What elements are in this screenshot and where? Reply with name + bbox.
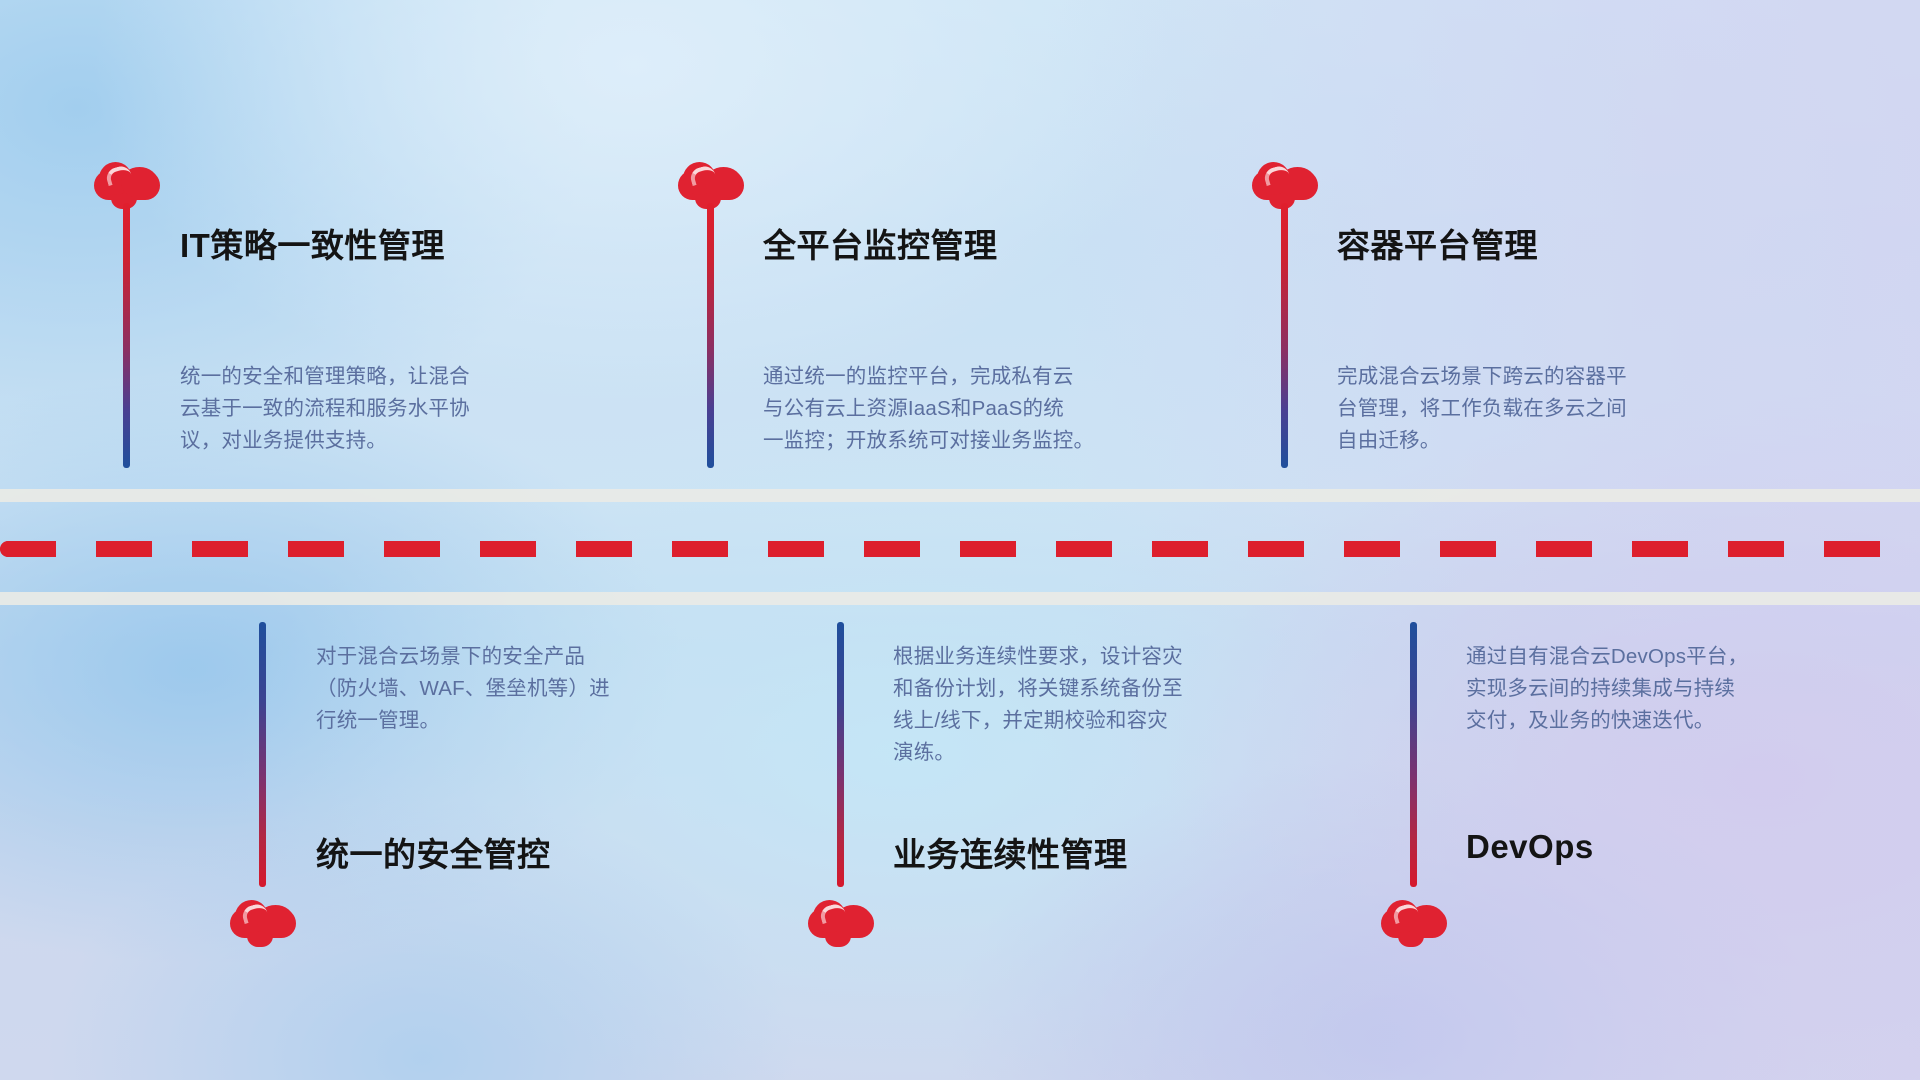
cloud-icon [94, 160, 160, 204]
road-band-lower [0, 592, 1920, 605]
stem-connector [1281, 203, 1288, 468]
cloud-icon [1252, 160, 1318, 204]
cloud-icon [1381, 898, 1447, 942]
stem-connector [259, 622, 266, 887]
bottom-column-2-body: 根据业务连续性要求，设计容灾 和备份计划，将关键系统备份至 线上/线下，并定期校… [893, 641, 1343, 769]
road-band-upper [0, 489, 1920, 502]
stem-connector [123, 203, 130, 468]
top-column-3-title: 容器平台管理 [1337, 219, 1538, 267]
bottom-column-2-title: 业务连续性管理 [893, 828, 1128, 876]
bottom-column-1-title: 统一的安全管控 [316, 828, 551, 876]
stem-connector [837, 622, 844, 887]
stem-connector [707, 203, 714, 468]
top-column-1-title: IT策略一致性管理 [180, 219, 445, 267]
top-column-1-body: 统一的安全和管理策略，让混合 云基于一致的流程和服务水平协 议，对业务提供支持。 [180, 361, 610, 457]
cloud-icon [230, 898, 296, 942]
road-center-dashes [0, 541, 1920, 557]
bottom-column-3-title: DevOps [1466, 828, 1594, 866]
top-column-2-body: 通过统一的监控平台，完成私有云 与公有云上资源IaaS和PaaS的统 一监控；开… [763, 361, 1233, 457]
infographic-canvas: IT策略一致性管理 统一的安全和管理策略，让混合 云基于一致的流程和服务水平协 … [0, 0, 1920, 1080]
top-column-3-body: 完成混合云场景下跨云的容器平 台管理，将工作负载在多云之间 自由迁移。 [1337, 361, 1787, 457]
bottom-column-1-body: 对于混合云场景下的安全产品 （防火墙、WAF、堡垒机等）进 行统一管理。 [316, 641, 746, 737]
top-column-2-title: 全平台监控管理 [763, 219, 998, 267]
cloud-icon [678, 160, 744, 204]
cloud-icon [808, 898, 874, 942]
stem-connector [1410, 622, 1417, 887]
bottom-column-3-body: 通过自有混合云DevOps平台， 实现多云间的持续集成与持续 交付，及业务的快速… [1466, 641, 1886, 737]
